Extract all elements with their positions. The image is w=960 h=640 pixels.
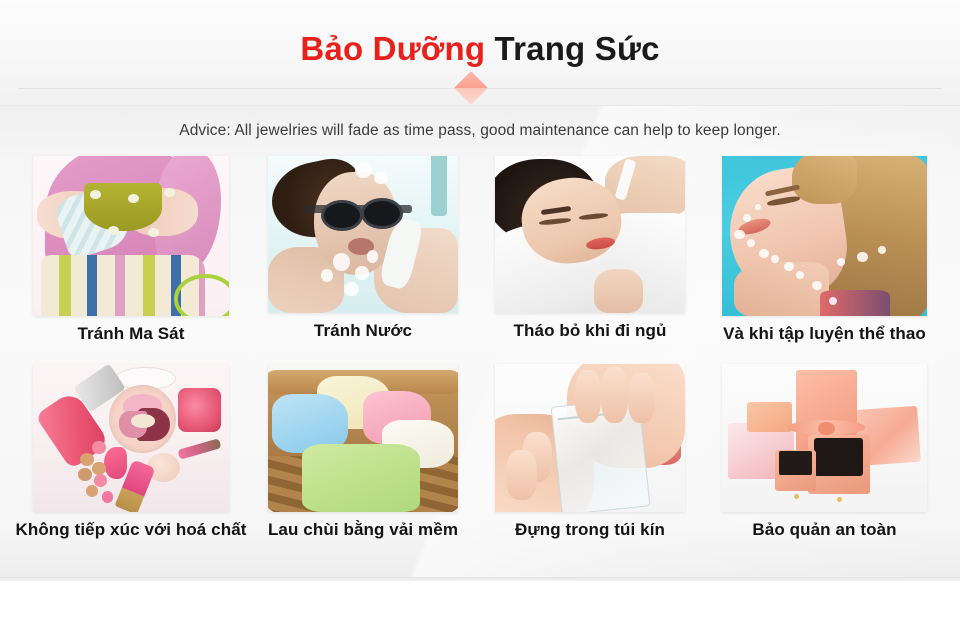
- page-title-rest: Trang Sức: [485, 30, 659, 67]
- page-header: Bảo Dưỡng Trang Sức: [0, 0, 960, 105]
- woman-sleeping-photo: [495, 156, 685, 313]
- tip-card-4[interactable]: Và khi tập luyện thể thao: [722, 156, 927, 361]
- tip-card-6[interactable]: Lau chùi bằng vải mềm: [268, 364, 458, 559]
- tip-card-7[interactable]: Đựng trong túi kín: [495, 364, 685, 559]
- tip-card-5[interactable]: Không tiếp xúc với hoá chất: [33, 364, 229, 559]
- hands-opening-zip-bag-photo: [495, 364, 685, 512]
- tip-caption-4: Và khi tập luyện thể thao: [723, 324, 926, 344]
- pink-jewelry-boxes-photo: [722, 364, 927, 512]
- towels-in-basket-photo: [268, 364, 458, 512]
- tip-caption-6: Lau chùi bằng vải mềm: [268, 520, 458, 540]
- woman-swimming-underwater-photo: [268, 156, 458, 313]
- content-panel: Advice: All jewelries will fade as time …: [0, 105, 960, 581]
- tip-caption-1: Tránh Ma Sát: [77, 324, 184, 344]
- tip-card-8[interactable]: Bảo quản an toàn: [722, 364, 927, 559]
- tip-caption-8: Bảo quản an toàn: [752, 520, 896, 540]
- tip-caption-5: Không tiếp xúc với hoá chất: [15, 520, 246, 540]
- tip-card-2[interactable]: Tránh Nước: [268, 156, 458, 361]
- diamond-ornament-icon: [454, 71, 488, 105]
- tip-caption-2: Tránh Nước: [314, 321, 412, 341]
- tip-card-3[interactable]: Tháo bỏ khi đi ngủ: [495, 156, 685, 361]
- page-title: Bảo Dưỡng Trang Sức: [0, 30, 960, 68]
- tip-card-1[interactable]: Tránh Ma Sát: [33, 156, 229, 361]
- pink-cosmetics-photo: [33, 364, 229, 512]
- tips-grid: Tránh Ma Sát: [0, 106, 960, 581]
- page-title-highlight: Bảo Dưỡng: [300, 30, 485, 67]
- woman-splashing-water-photo: [722, 156, 927, 316]
- woman-drying-bowl-photo: [33, 156, 229, 316]
- tip-caption-3: Tháo bỏ khi đi ngủ: [514, 321, 667, 341]
- tip-caption-7: Đựng trong túi kín: [515, 520, 665, 540]
